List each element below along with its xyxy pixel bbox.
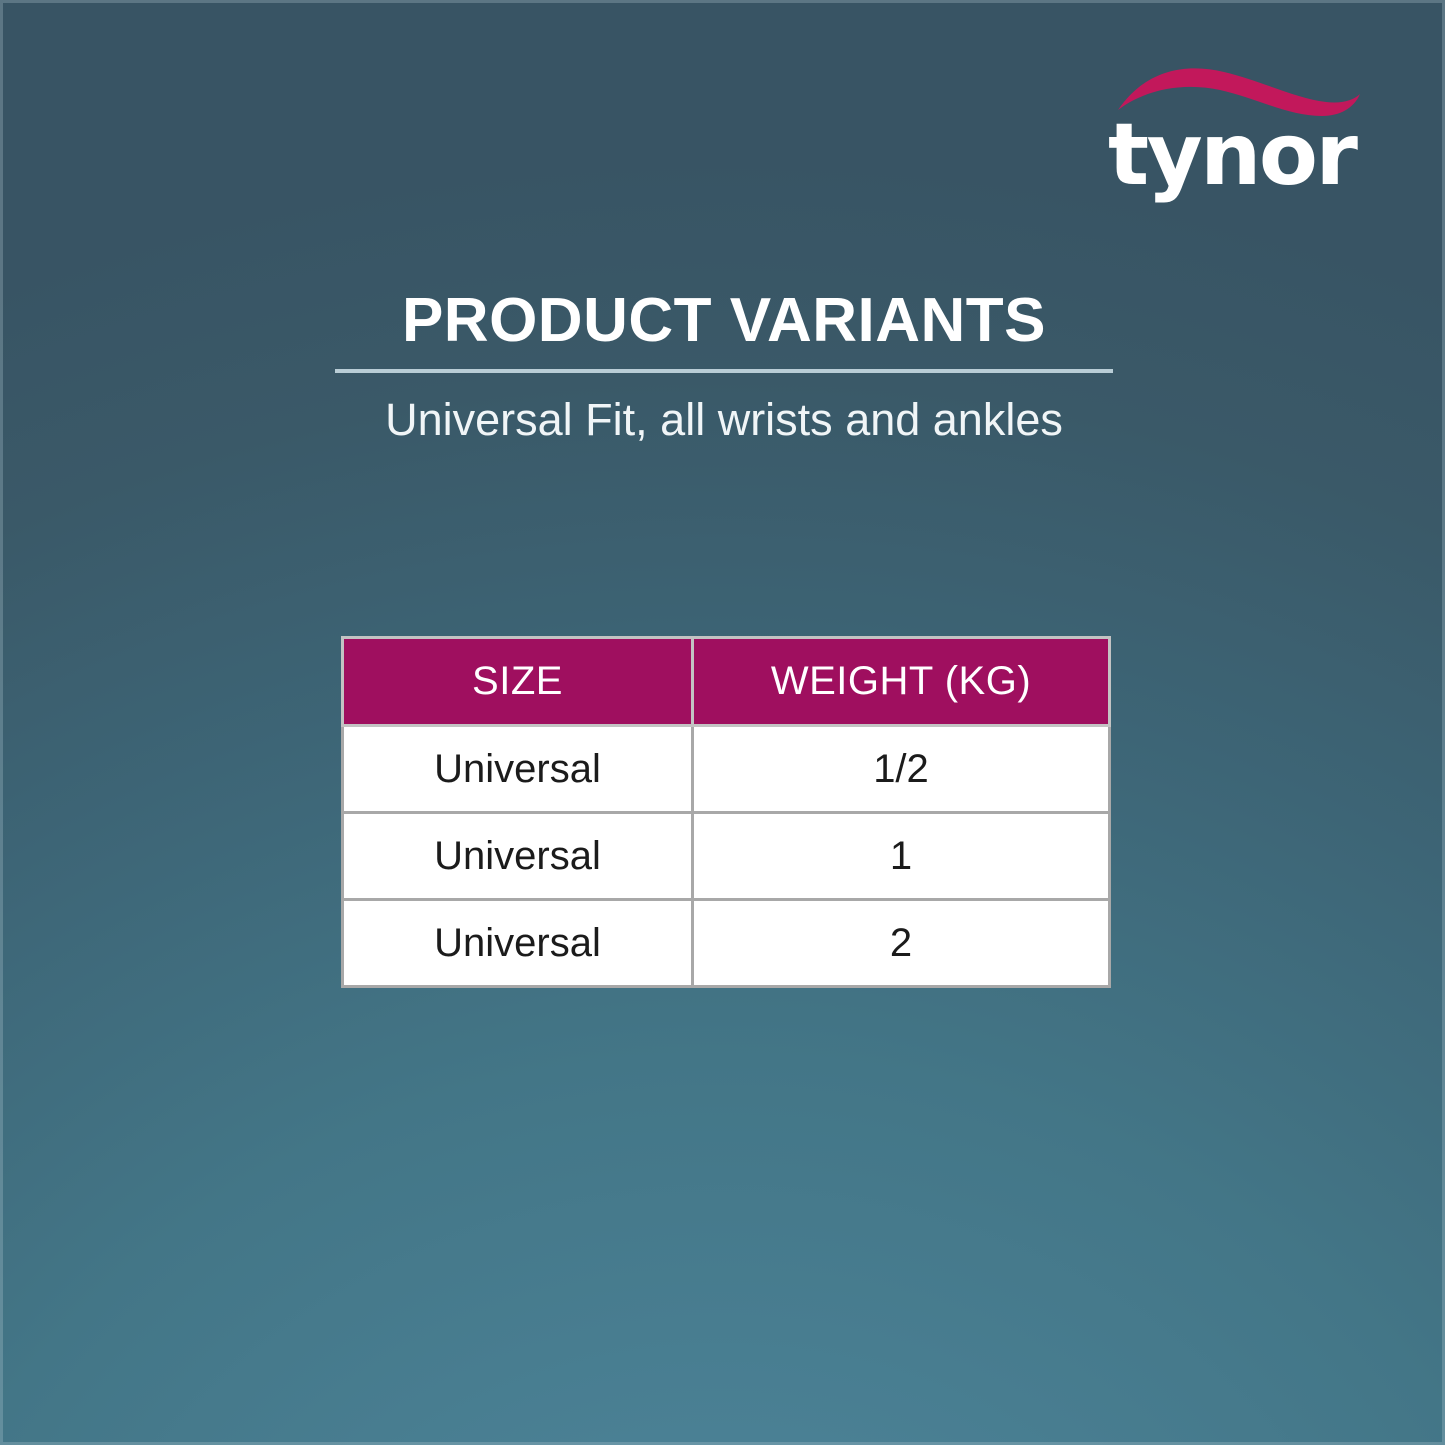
table-row: Universal 2 [343,900,1110,987]
table-row: Universal 1 [343,813,1110,900]
column-header-size: SIZE [343,638,693,726]
product-variants-card: tynor PRODUCT VARIANTS Universal Fit, al… [0,0,1445,1445]
product-variants-table: SIZE WEIGHT (KG) Universal 1/2 Universal… [341,636,1111,988]
cell-weight: 1/2 [693,726,1110,813]
title-block: PRODUCT VARIANTS Universal Fit, all wris… [335,288,1113,445]
cell-size: Universal [343,900,693,987]
table-body: Universal 1/2 Universal 1 Universal 2 [343,726,1110,987]
cell-size: Universal [343,726,693,813]
table-header: SIZE WEIGHT (KG) [343,638,1110,726]
title-divider [335,369,1113,373]
column-header-weight: WEIGHT (KG) [693,638,1110,726]
tynor-logo: tynor [1108,56,1366,206]
cell-weight: 1 [693,813,1110,900]
page-title: PRODUCT VARIANTS [335,288,1113,353]
cell-size: Universal [343,813,693,900]
page-subtitle: Universal Fit, all wrists and ankles [335,395,1113,445]
cell-weight: 2 [693,900,1110,987]
tynor-wordmark: tynor [1108,112,1366,198]
table-header-row: SIZE WEIGHT (KG) [343,638,1110,726]
table-row: Universal 1/2 [343,726,1110,813]
